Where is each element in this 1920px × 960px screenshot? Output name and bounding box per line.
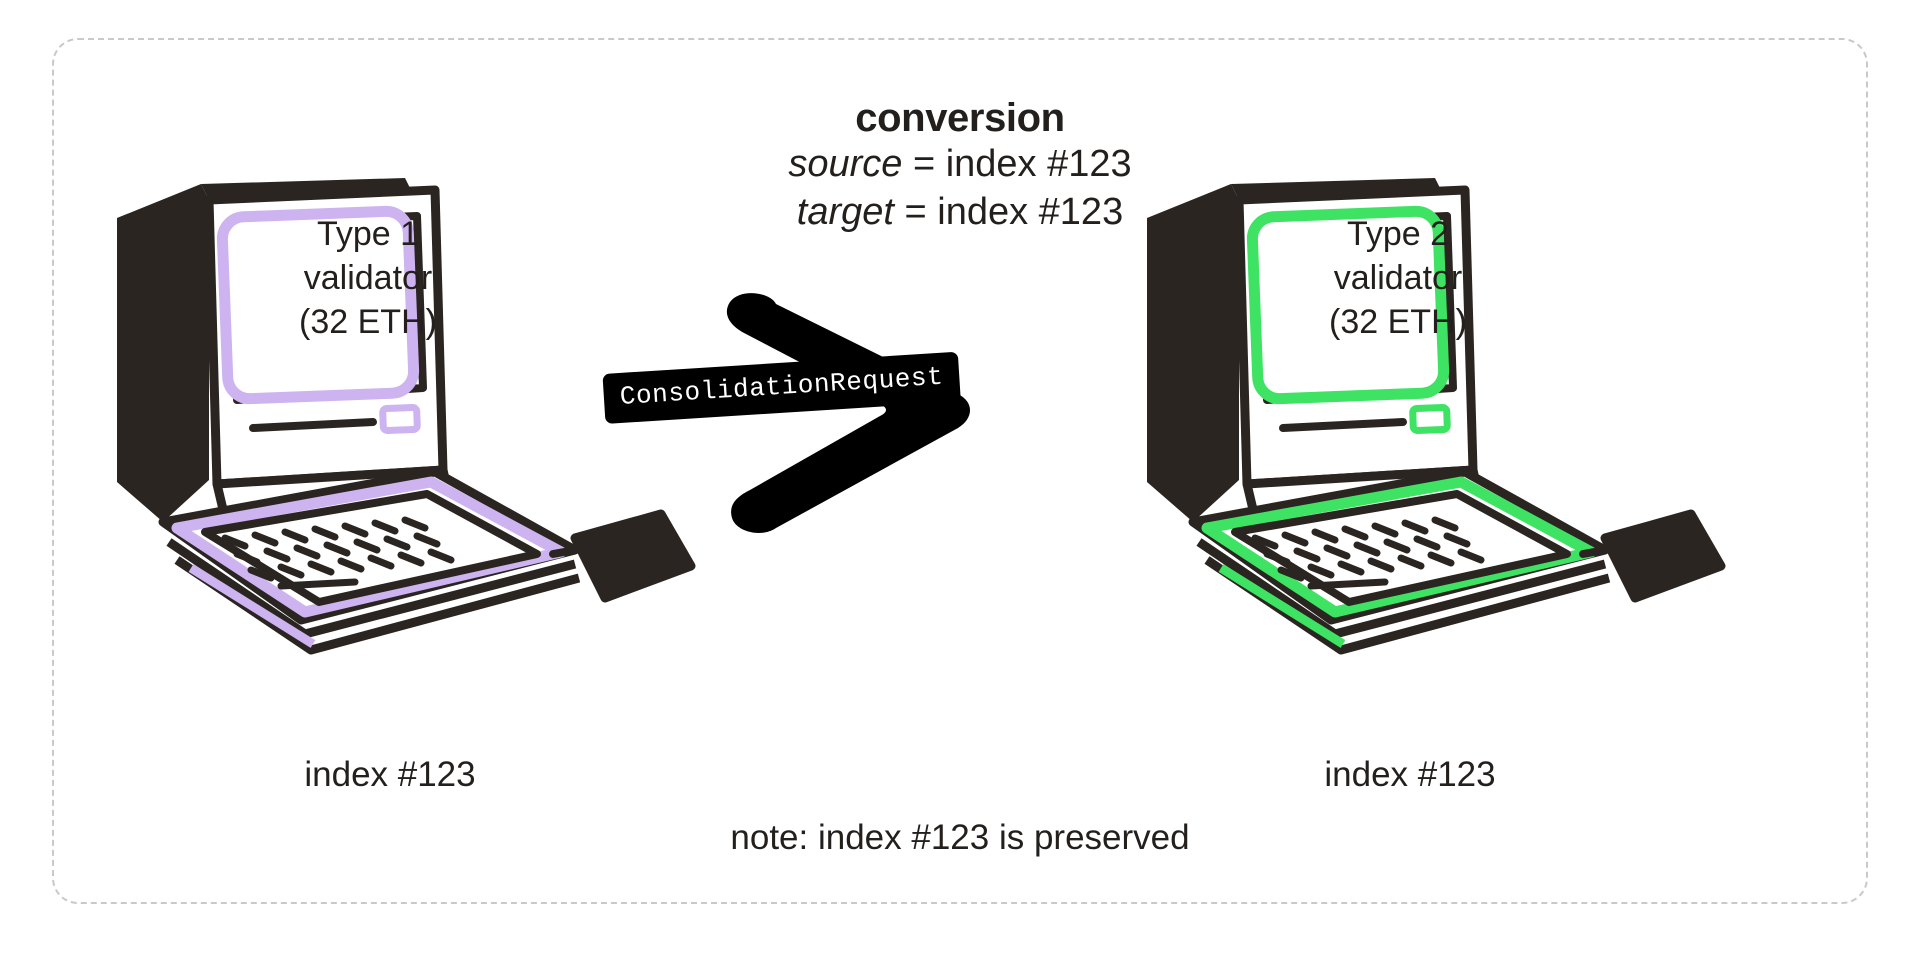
- target-keyword: target: [797, 191, 894, 233]
- conversion-title: conversion: [560, 96, 1360, 141]
- source-screen-line-3: (32 ETH): [243, 300, 493, 344]
- preservation-note: note: index #123 is preserved: [0, 818, 1920, 858]
- target-screen-text: Type 2 validator (32 ETH): [1273, 212, 1523, 345]
- target-index-caption: index #123: [1060, 755, 1760, 795]
- source-screen-line-2: validator: [243, 256, 493, 300]
- target-screen-line-3: (32 ETH): [1273, 300, 1523, 344]
- source-value: = index #123: [913, 143, 1132, 185]
- conversion-arrow: [580, 290, 1100, 560]
- target-validator-computer: Type 2 validator (32 ETH): [1135, 150, 1835, 730]
- source-screen-text: Type 1 validator (32 ETH): [243, 212, 493, 345]
- target-screen-line-2: validator: [1273, 256, 1523, 300]
- target-screen-line-1: Type 2: [1273, 212, 1523, 256]
- source-index-caption: index #123: [40, 755, 740, 795]
- diagram-canvas: conversion source = index #123 target = …: [0, 0, 1920, 960]
- source-screen-line-1: Type 1: [243, 212, 493, 256]
- target-value: = index #123: [905, 191, 1124, 233]
- source-keyword: source: [788, 143, 902, 185]
